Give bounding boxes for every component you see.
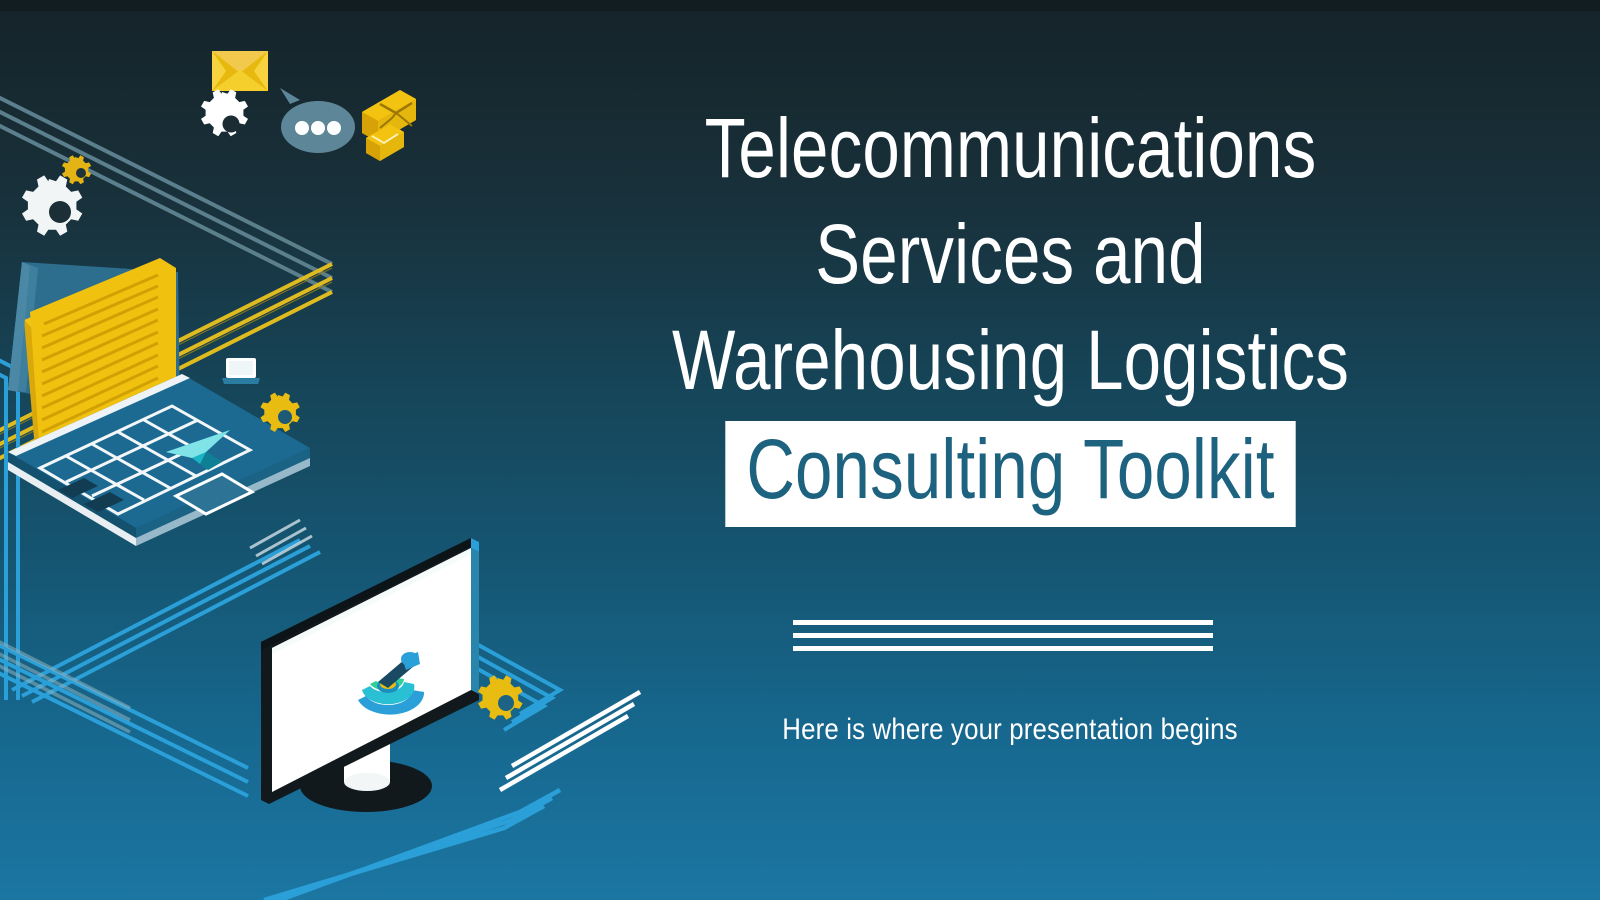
title-line-2: Services and bbox=[601, 202, 1421, 308]
circuit-line-path-blue bbox=[264, 790, 560, 900]
divider-line bbox=[793, 633, 1213, 638]
title-line-1: Telecommunications bbox=[601, 96, 1421, 202]
mini-laptop-icon bbox=[222, 358, 260, 384]
circuit-line-path-blue bbox=[0, 626, 248, 796]
title-block: Telecommunications Services and Warehous… bbox=[600, 96, 1420, 527]
title-highlight: Consulting Toolkit bbox=[726, 421, 1296, 527]
flat-envelope-icon bbox=[212, 51, 268, 91]
circuit-line-path-white bbox=[500, 692, 640, 790]
gear-icon-yellow-bottom bbox=[478, 675, 523, 720]
gear-icon-white-large bbox=[22, 175, 82, 235]
subtitle: Here is where your presentation begins bbox=[657, 713, 1362, 747]
divider bbox=[793, 620, 1213, 651]
circuit-line-path-white bbox=[250, 520, 312, 564]
title-highlight-wrap: Consulting Toolkit bbox=[601, 417, 1421, 527]
title-slide: Telecommunications Services and Warehous… bbox=[0, 0, 1600, 900]
page-title: Telecommunications Services and Warehous… bbox=[601, 96, 1421, 527]
chat-bubble-icon bbox=[280, 88, 355, 153]
divider-line bbox=[793, 646, 1213, 651]
divider-line bbox=[793, 620, 1213, 625]
gear-icon-white-small bbox=[201, 89, 248, 136]
isometric-monitor bbox=[261, 538, 479, 812]
title-line-3: Warehousing Logistics bbox=[601, 308, 1421, 414]
